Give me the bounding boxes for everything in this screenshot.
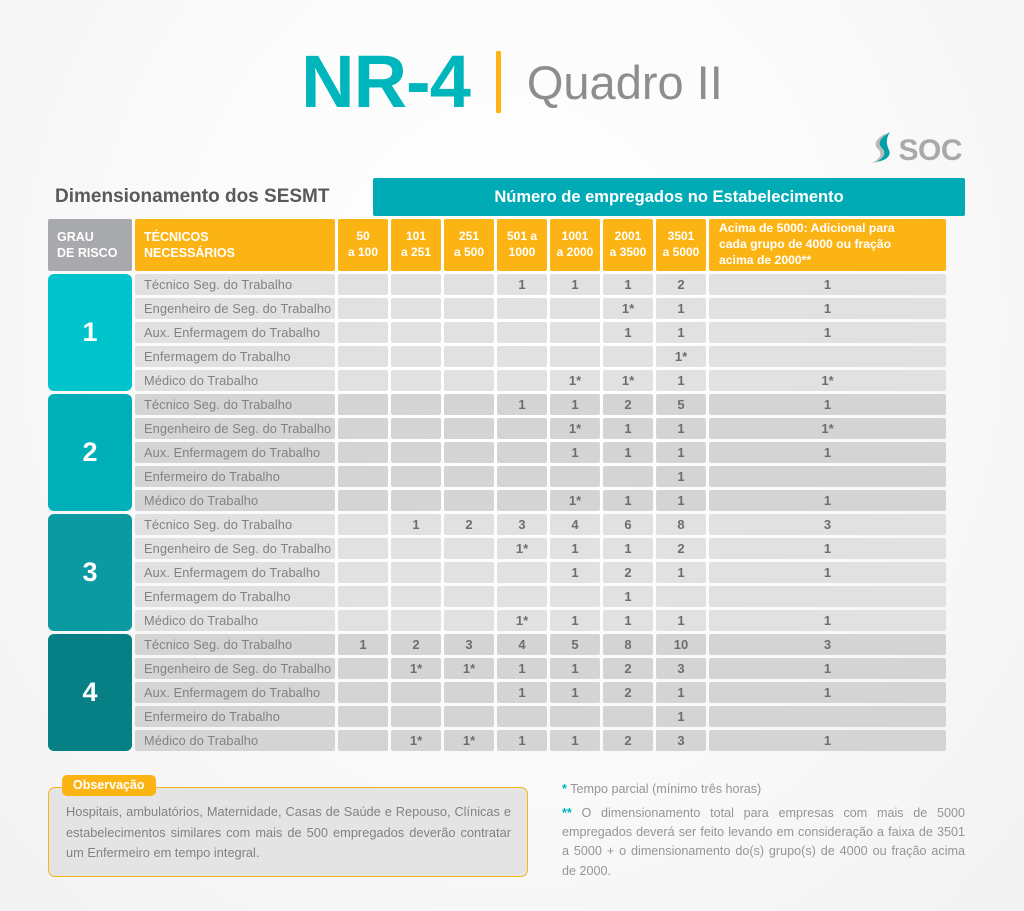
- range-line1: 50: [356, 229, 369, 245]
- data-cell: [391, 706, 441, 727]
- acima-line1: Acima de 5000: Adicional para: [719, 221, 940, 237]
- range-line2: a 3500: [610, 245, 647, 261]
- data-cell: 1: [603, 490, 653, 511]
- data-cell-acima: 3: [709, 634, 946, 655]
- data-cell: [338, 298, 388, 319]
- data-cell: 1: [656, 490, 706, 511]
- data-cell: 2: [656, 538, 706, 559]
- data-cell: 1: [550, 682, 600, 703]
- range-line1: 3501: [668, 229, 695, 245]
- data-cell: [391, 562, 441, 583]
- data-cell: [603, 706, 653, 727]
- data-cell: 1*: [497, 610, 547, 631]
- footnote-2: ** O dimensionamento total para empresas…: [562, 804, 965, 881]
- data-cell: [444, 610, 494, 631]
- title-divider: [496, 51, 501, 113]
- risk-group-4: 4Técnico Seg. do Trabalho123458103Engenh…: [48, 634, 965, 751]
- column-header-range-3: 501 a 1000: [497, 219, 547, 271]
- data-cell: [497, 346, 547, 367]
- data-cell: [391, 586, 441, 607]
- data-cell: [444, 490, 494, 511]
- role-label: Enfermagem do Trabalho: [135, 586, 335, 607]
- acima-line3: acima de 2000**: [719, 253, 940, 269]
- footnotes: * Tempo parcial (mínimo três horas) ** O…: [528, 775, 965, 886]
- grau-de-risco-1: 1: [48, 274, 132, 391]
- data-cell: [497, 442, 547, 463]
- data-cell: 1*: [603, 298, 653, 319]
- data-cell: 1*: [391, 658, 441, 679]
- data-cell: [391, 274, 441, 295]
- grau-de-risco-3: 3: [48, 514, 132, 631]
- data-cell-acima: 1: [709, 274, 946, 295]
- range-line2: a 5000: [663, 245, 700, 261]
- data-cell: 3: [444, 634, 494, 655]
- data-cell: [338, 730, 388, 751]
- column-header-grau-de-risco: GRAU DE RISCO: [48, 219, 132, 271]
- data-cell: [338, 346, 388, 367]
- table-row: Engenheiro de Seg. do Trabalho1*1*11231: [135, 658, 965, 679]
- data-cell: 1: [656, 562, 706, 583]
- data-cell: [497, 706, 547, 727]
- footer: Observação Hospitais, ambulatórios, Mate…: [48, 775, 965, 886]
- tecnicos-header-line2: NECESSÁRIOS: [144, 245, 335, 261]
- data-cell: 1: [550, 394, 600, 415]
- data-cell-acima: [709, 586, 946, 607]
- data-cell: 1: [550, 562, 600, 583]
- data-cell: [603, 466, 653, 487]
- data-cell: [550, 298, 600, 319]
- data-cell-acima: 1: [709, 490, 946, 511]
- data-cell: [603, 346, 653, 367]
- data-cell: [444, 562, 494, 583]
- data-cell: 1: [497, 730, 547, 751]
- data-cell: 1: [550, 538, 600, 559]
- data-cell-acima: 1: [709, 394, 946, 415]
- role-label: Técnico Seg. do Trabalho: [135, 514, 335, 535]
- role-label: Aux. Enfermagem do Trabalho: [135, 562, 335, 583]
- data-cell: [550, 322, 600, 343]
- data-cell: [497, 586, 547, 607]
- data-cell: 1: [603, 610, 653, 631]
- table-row: Técnico Seg. do Trabalho1234683: [135, 514, 965, 535]
- data-cell: [550, 466, 600, 487]
- table-row: Técnico Seg. do Trabalho11121: [135, 274, 965, 295]
- table-row: Engenheiro de Seg. do Trabalho1*11: [135, 298, 965, 319]
- data-cell: 1: [603, 442, 653, 463]
- table-right-title: Número de empregados no Estabelecimento: [373, 178, 965, 216]
- data-cell: 2: [603, 682, 653, 703]
- data-cell: [444, 346, 494, 367]
- role-label: Enfermagem do Trabalho: [135, 346, 335, 367]
- data-cell: 2: [603, 730, 653, 751]
- data-cell: [338, 322, 388, 343]
- role-label: Enfermeiro do Trabalho: [135, 706, 335, 727]
- role-label: Técnico Seg. do Trabalho: [135, 274, 335, 295]
- data-cell: [444, 682, 494, 703]
- role-label: Médico do Trabalho: [135, 610, 335, 631]
- data-cell-acima: [709, 706, 946, 727]
- column-header-range-5: 2001 a 3500: [603, 219, 653, 271]
- data-cell-acima: [709, 346, 946, 367]
- data-cell: 1*: [391, 730, 441, 751]
- data-cell: [444, 418, 494, 439]
- range-line2: a 251: [401, 245, 431, 261]
- data-cell: 3: [656, 658, 706, 679]
- data-cell: [550, 706, 600, 727]
- data-cell-acima: 1: [709, 442, 946, 463]
- role-label: Engenheiro de Seg. do Trabalho: [135, 538, 335, 559]
- data-cell: 5: [656, 394, 706, 415]
- data-cell: [391, 442, 441, 463]
- data-cell: 1*: [603, 370, 653, 391]
- data-cell: [444, 370, 494, 391]
- data-cell: 1: [550, 730, 600, 751]
- data-cell: 1: [656, 466, 706, 487]
- data-cell: 1: [656, 298, 706, 319]
- column-header-range-0: 50 a 100: [338, 219, 388, 271]
- data-cell: 3: [656, 730, 706, 751]
- data-cell: [338, 586, 388, 607]
- table-row: Médico do Trabalho1*1*11231: [135, 730, 965, 751]
- data-cell: 1: [550, 442, 600, 463]
- data-cell: [391, 370, 441, 391]
- group-rows: Técnico Seg. do Trabalho11121Engenheiro …: [135, 274, 965, 391]
- table-row: Enfermagem do Trabalho1*: [135, 346, 965, 367]
- table-row: Enfermagem do Trabalho1: [135, 586, 965, 607]
- table-row: Médico do Trabalho1*1111: [135, 610, 965, 631]
- role-label: Engenheiro de Seg. do Trabalho: [135, 658, 335, 679]
- role-label: Técnico Seg. do Trabalho: [135, 634, 335, 655]
- data-cell: [497, 466, 547, 487]
- data-cell: [550, 346, 600, 367]
- data-cell: 1: [656, 418, 706, 439]
- data-cell-acima: 1: [709, 682, 946, 703]
- data-cell-acima: 1: [709, 562, 946, 583]
- data-cell: 1: [656, 682, 706, 703]
- data-cell: 2: [391, 634, 441, 655]
- data-cell: 2: [656, 274, 706, 295]
- role-label: Engenheiro de Seg. do Trabalho: [135, 418, 335, 439]
- observacao-tag: Observação: [62, 775, 156, 796]
- data-cell: [338, 370, 388, 391]
- data-cell-acima: 1: [709, 298, 946, 319]
- data-cell: 1: [603, 586, 653, 607]
- soc-wave-icon: [866, 131, 896, 170]
- range-line2: a 500: [454, 245, 484, 261]
- role-label: Aux. Enfermagem do Trabalho: [135, 322, 335, 343]
- data-cell: 8: [603, 634, 653, 655]
- role-label: Engenheiro de Seg. do Trabalho: [135, 298, 335, 319]
- footnote-2-text: O dimensionamento total para empresas co…: [562, 806, 965, 877]
- grau-header-line1: GRAU: [57, 229, 132, 245]
- data-cell: [391, 610, 441, 631]
- data-cell: 1*: [444, 730, 494, 751]
- data-cell-acima: 1: [709, 538, 946, 559]
- group-rows: Técnico Seg. do Trabalho1234683Engenheir…: [135, 514, 965, 631]
- data-cell: 4: [550, 514, 600, 535]
- range-line2: 1000: [509, 245, 536, 261]
- data-cell: [444, 394, 494, 415]
- data-cell: [338, 274, 388, 295]
- data-cell: [444, 466, 494, 487]
- table-row: Médico do Trabalho1*111: [135, 490, 965, 511]
- data-cell-acima: 1: [709, 658, 946, 679]
- data-cell: [338, 442, 388, 463]
- risk-group-3: 3Técnico Seg. do Trabalho1234683Engenhei…: [48, 514, 965, 631]
- data-cell: [391, 466, 441, 487]
- data-cell: 1: [603, 274, 653, 295]
- range-line1: 101: [406, 229, 426, 245]
- range-line2: a 100: [348, 245, 378, 261]
- column-header-tecnicos-necessarios: TÉCNICOS NECESSÁRIOS: [135, 219, 335, 271]
- data-cell: 1*: [550, 418, 600, 439]
- data-cell: [338, 394, 388, 415]
- table-row: Aux. Enfermagem do Trabalho11211: [135, 682, 965, 703]
- data-cell: 1: [656, 370, 706, 391]
- table-row: Técnico Seg. do Trabalho11251: [135, 394, 965, 415]
- data-cell: 1: [497, 274, 547, 295]
- observacao-text: Hospitais, ambulatórios, Maternidade, Ca…: [48, 787, 528, 877]
- data-cell: [444, 298, 494, 319]
- title-main: NR-4: [301, 45, 470, 119]
- data-cell: 4: [497, 634, 547, 655]
- data-cell: [338, 610, 388, 631]
- group-rows: Técnico Seg. do Trabalho123458103Engenhe…: [135, 634, 965, 751]
- soc-logo-text: SOC: [898, 136, 962, 166]
- footnote-1: * Tempo parcial (mínimo três horas): [562, 780, 965, 799]
- data-cell: [444, 586, 494, 607]
- table-row: Aux. Enfermagem do Trabalho111: [135, 322, 965, 343]
- data-cell: 1: [603, 322, 653, 343]
- range-line1: 2001: [615, 229, 642, 245]
- role-label: Enfermeiro do Trabalho: [135, 466, 335, 487]
- data-cell-acima: [709, 466, 946, 487]
- data-cell: 1: [603, 418, 653, 439]
- data-cell-acima: 1: [709, 730, 946, 751]
- range-line1: 501 a: [507, 229, 537, 245]
- data-cell: [444, 274, 494, 295]
- data-cell: 1: [603, 538, 653, 559]
- data-cell-acima: 1: [709, 610, 946, 631]
- data-cell: 1: [497, 394, 547, 415]
- data-cell: [391, 682, 441, 703]
- data-cell: [391, 298, 441, 319]
- grau-de-risco-4: 4: [48, 634, 132, 751]
- data-cell: 8: [656, 514, 706, 535]
- role-label: Médico do Trabalho: [135, 730, 335, 751]
- range-line1: 1001: [562, 229, 589, 245]
- data-cell: 6: [603, 514, 653, 535]
- group-rows: Técnico Seg. do Trabalho11251Engenheiro …: [135, 394, 965, 511]
- data-cell: [338, 466, 388, 487]
- sesmt-table: Dimensionamento dos SESMT Número de empr…: [48, 178, 965, 754]
- range-line2: a 2000: [557, 245, 594, 261]
- table-row: Técnico Seg. do Trabalho123458103: [135, 634, 965, 655]
- grau-de-risco-2: 2: [48, 394, 132, 511]
- data-cell: [444, 442, 494, 463]
- data-cell: [391, 322, 441, 343]
- column-header-range-1: 101 a 251: [391, 219, 441, 271]
- title-subtitle: Quadro II: [527, 59, 723, 106]
- role-label: Aux. Enfermagem do Trabalho: [135, 442, 335, 463]
- risk-group-2: 2Técnico Seg. do Trabalho11251Engenheiro…: [48, 394, 965, 511]
- table-row: Enfermeiro do Trabalho1: [135, 706, 965, 727]
- data-cell: [391, 394, 441, 415]
- tecnicos-header-line1: TÉCNICOS: [144, 229, 335, 245]
- column-header-range-6: 3501 a 5000: [656, 219, 706, 271]
- data-cell: [444, 538, 494, 559]
- data-cell-acima: 1*: [709, 370, 946, 391]
- data-cell: 2: [603, 658, 653, 679]
- table-header-top: Dimensionamento dos SESMT Número de empr…: [48, 178, 965, 216]
- data-cell: 1: [656, 610, 706, 631]
- data-cell: [338, 418, 388, 439]
- data-cell: [497, 490, 547, 511]
- data-cell-acima: 1*: [709, 418, 946, 439]
- data-cell: 1*: [497, 538, 547, 559]
- footnote-1-marker: *: [562, 782, 567, 796]
- table-row: Aux. Enfermagem do Trabalho1211: [135, 562, 965, 583]
- data-cell: [550, 586, 600, 607]
- data-cell: 3: [497, 514, 547, 535]
- data-cell: [338, 706, 388, 727]
- data-cell: 2: [603, 394, 653, 415]
- data-cell: 1: [497, 658, 547, 679]
- data-cell: [391, 538, 441, 559]
- data-cell-acima: 1: [709, 322, 946, 343]
- role-label: Médico do Trabalho: [135, 490, 335, 511]
- data-cell: [497, 322, 547, 343]
- role-label: Médico do Trabalho: [135, 370, 335, 391]
- column-header-range-4: 1001 a 2000: [550, 219, 600, 271]
- column-header-range-2: 251 a 500: [444, 219, 494, 271]
- page-title: NR-4 Quadro II: [0, 0, 1024, 150]
- data-cell: [497, 562, 547, 583]
- table-row: Aux. Enfermagem do Trabalho1111: [135, 442, 965, 463]
- table-row: Médico do Trabalho1*1*11*: [135, 370, 965, 391]
- footnote-1-text: Tempo parcial (mínimo três horas): [570, 782, 761, 796]
- data-cell: [497, 298, 547, 319]
- data-cell: [338, 538, 388, 559]
- table-column-headers: GRAU DE RISCO TÉCNICOS NECESSÁRIOS 50 a …: [48, 219, 965, 271]
- data-cell: [391, 490, 441, 511]
- acima-line2: cada grupo de 4000 ou fração: [719, 237, 940, 253]
- table-left-title: Dimensionamento dos SESMT: [48, 178, 373, 216]
- data-cell: 1*: [656, 346, 706, 367]
- data-cell: 1: [550, 610, 600, 631]
- data-cell: 1*: [550, 490, 600, 511]
- data-cell: 1: [656, 322, 706, 343]
- data-cell-acima: 3: [709, 514, 946, 535]
- role-label: Aux. Enfermagem do Trabalho: [135, 682, 335, 703]
- table-row: Engenheiro de Seg. do Trabalho1*111*: [135, 418, 965, 439]
- data-cell: 1: [656, 706, 706, 727]
- data-cell: 1*: [550, 370, 600, 391]
- data-cell: 1: [391, 514, 441, 535]
- data-cell: 5: [550, 634, 600, 655]
- data-cell: [391, 346, 441, 367]
- data-cell: 1: [338, 634, 388, 655]
- data-cell: [338, 682, 388, 703]
- data-cell: [444, 706, 494, 727]
- data-cell: [497, 370, 547, 391]
- data-cell: 1: [656, 442, 706, 463]
- observacao-block: Observação Hospitais, ambulatórios, Mate…: [48, 775, 528, 886]
- grau-header-line2: DE RISCO: [57, 245, 132, 261]
- data-cell: [497, 418, 547, 439]
- data-cell: [338, 514, 388, 535]
- table-row: Enfermeiro do Trabalho1: [135, 466, 965, 487]
- data-cell: 1: [550, 274, 600, 295]
- risk-group-1: 1Técnico Seg. do Trabalho11121Engenheiro…: [48, 274, 965, 391]
- data-cell: 2: [444, 514, 494, 535]
- footnote-2-marker: **: [562, 806, 572, 820]
- soc-logo: SOC: [866, 131, 962, 170]
- range-line1: 251: [459, 229, 479, 245]
- table-row: Engenheiro de Seg. do Trabalho1*1121: [135, 538, 965, 559]
- data-cell: [391, 418, 441, 439]
- data-cell: 10: [656, 634, 706, 655]
- data-cell: 1: [497, 682, 547, 703]
- data-cell: [338, 490, 388, 511]
- data-cell: [656, 586, 706, 607]
- data-cell: [338, 562, 388, 583]
- column-header-acima-5000: Acima de 5000: Adicional para cada grupo…: [709, 219, 946, 271]
- data-cell: [444, 322, 494, 343]
- role-label: Técnico Seg. do Trabalho: [135, 394, 335, 415]
- data-cell: [338, 658, 388, 679]
- data-cell: 1: [550, 658, 600, 679]
- table-body: 1Técnico Seg. do Trabalho11121Engenheiro…: [48, 274, 965, 751]
- data-cell: 2: [603, 562, 653, 583]
- data-cell: 1*: [444, 658, 494, 679]
